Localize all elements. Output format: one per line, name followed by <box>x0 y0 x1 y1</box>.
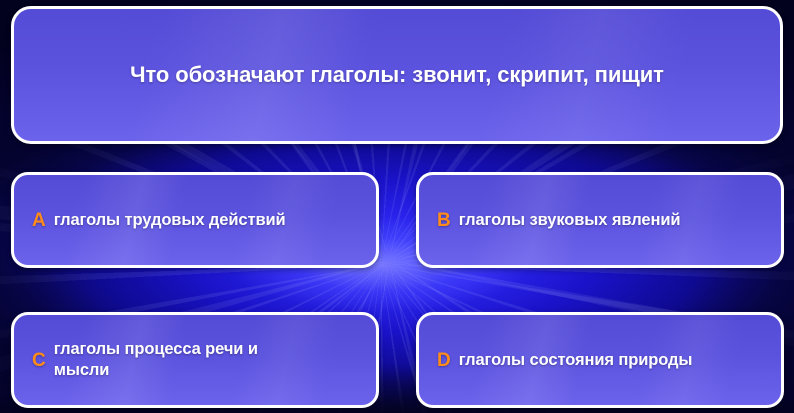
answer-option-b-content: B глаголы звуковых явлений <box>437 210 767 231</box>
answer-option-d-label: глаголы состояния природы <box>459 350 693 371</box>
answer-option-c-label: глаголы процесса речи и мысли <box>54 339 309 380</box>
answer-option-a-letter: A <box>32 211 46 230</box>
answer-option-d[interactable]: D глаголы состояния природы <box>416 312 784 408</box>
answer-option-a-label: глаголы трудовых действий <box>54 210 286 231</box>
answer-option-c-content: C глаголы процесса речи и мысли <box>32 339 362 380</box>
answer-option-b[interactable]: B глаголы звуковых явлений <box>416 172 784 268</box>
answer-option-b-letter: B <box>437 211 451 230</box>
answer-option-a-content: A глаголы трудовых действий <box>32 210 362 231</box>
answer-option-d-content: D глаголы состояния природы <box>437 350 767 371</box>
question-text: Что обозначают глаголы: звонит, скрипит,… <box>104 60 690 90</box>
answer-option-b-label: глаголы звуковых явлений <box>459 210 681 231</box>
answer-option-c[interactable]: C глаголы процесса речи и мысли <box>11 312 379 408</box>
answer-option-c-letter: C <box>32 351 46 370</box>
question-card: Что обозначают глаголы: звонит, скрипит,… <box>11 6 783 144</box>
answer-option-a[interactable]: A глаголы трудовых действий <box>11 172 379 268</box>
answer-option-d-letter: D <box>437 351 451 370</box>
quiz-slide: Что обозначают глаголы: звонит, скрипит,… <box>0 0 794 413</box>
